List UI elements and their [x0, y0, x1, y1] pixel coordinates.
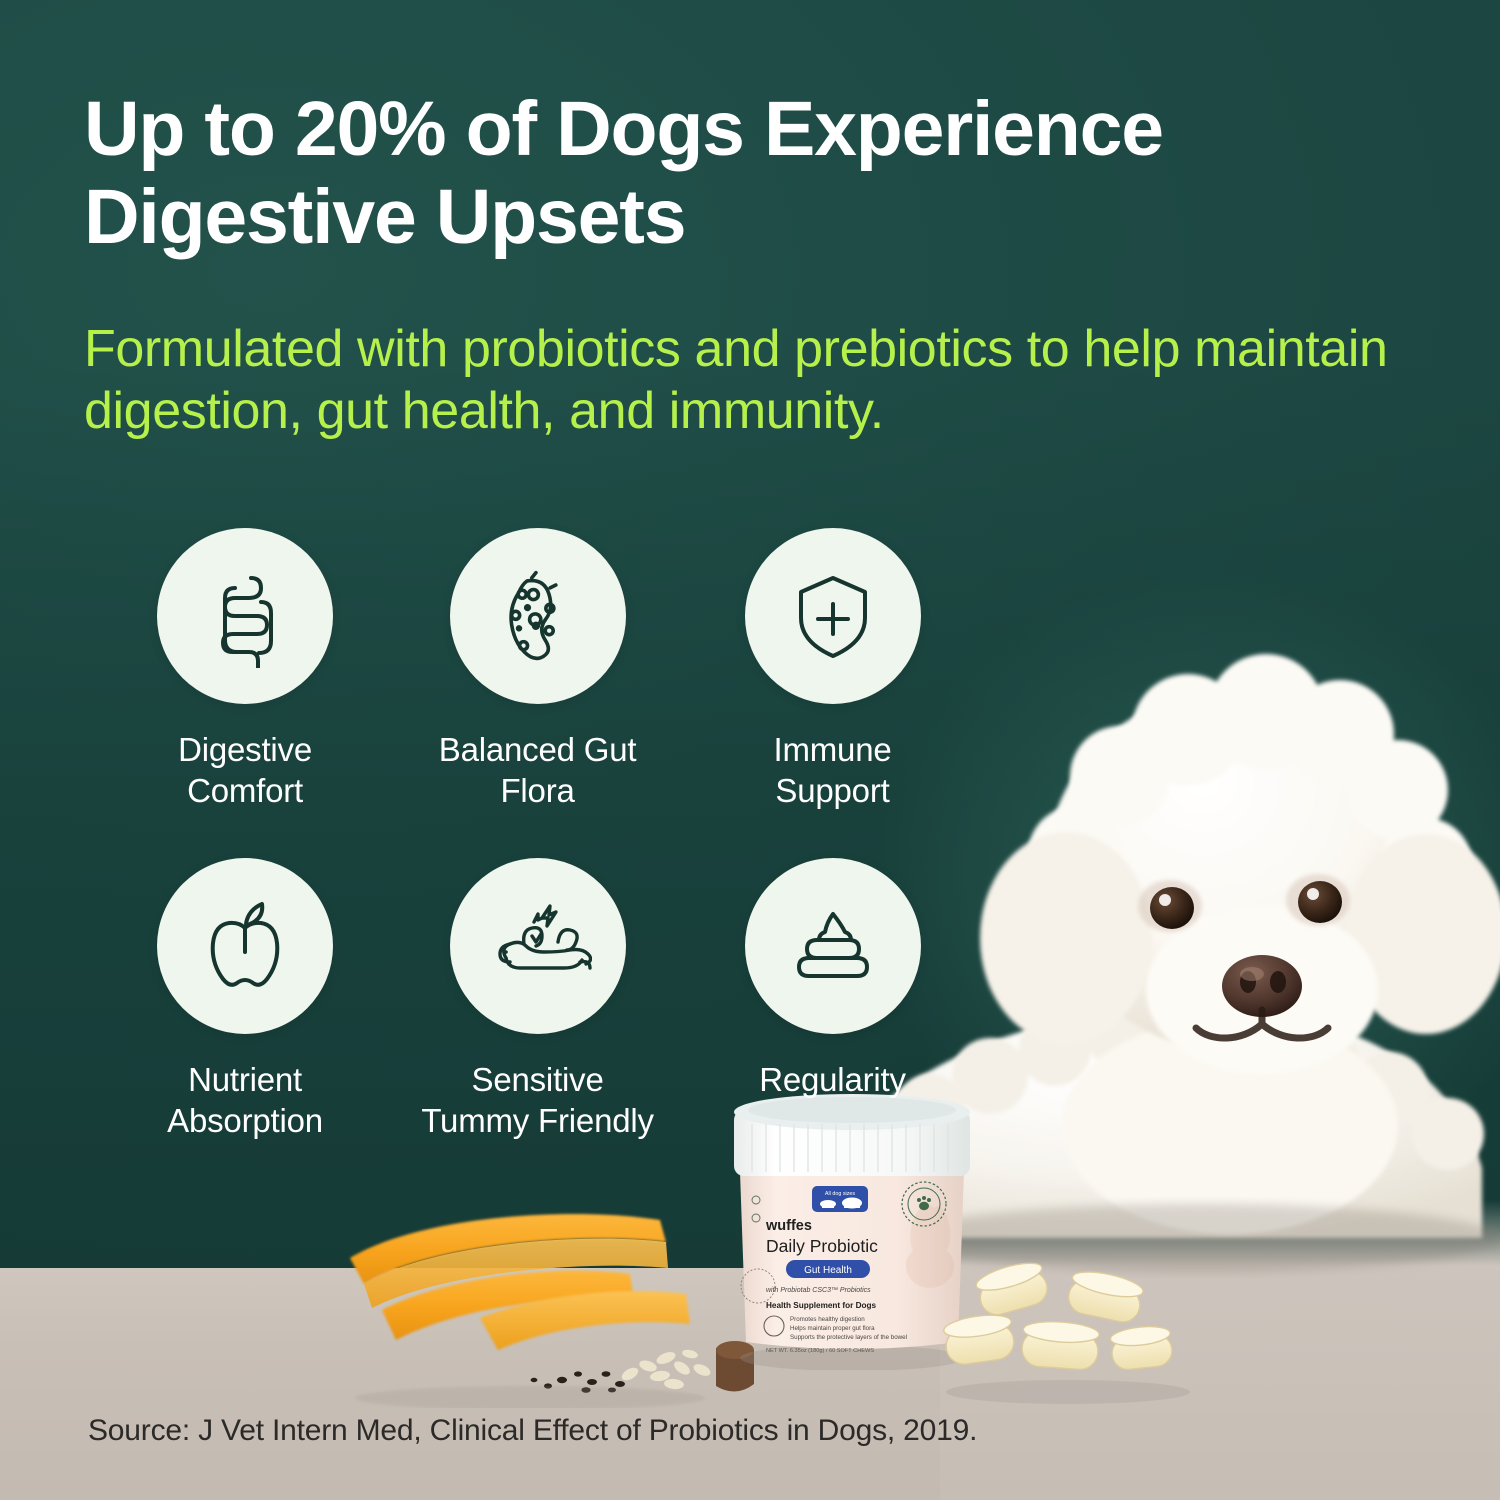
pumpkin-and-oats-props	[330, 1198, 760, 1408]
benefit-immune-support: Immune Support	[685, 528, 980, 812]
jar-bullet-1: Promotes healthy digestion	[790, 1316, 865, 1323]
jar-net-weight-text: NET WT. 6.35oz (180g) / 60 SOFT CHEWS	[766, 1348, 874, 1354]
benefit-sensitive-tummy: Sensitive Tummy Friendly	[390, 858, 685, 1142]
benefit-balanced-gut-flora: Balanced Gut Flora	[390, 528, 685, 812]
benefit-regularity: Regularity	[685, 858, 980, 1142]
stool-icon	[745, 858, 921, 1034]
shield-plus-icon	[745, 528, 921, 704]
page-title: Up to 20% of Dogs Experience Digestive U…	[84, 86, 1424, 262]
jar-product-name-text: Daily Probiotic	[766, 1236, 878, 1256]
banana-slices-prop	[928, 1258, 1198, 1408]
benefit-label: Digestive Comfort	[178, 730, 312, 812]
benefits-row-2: Nutrient Absorption	[100, 858, 980, 1142]
benefit-label: Sensitive Tummy Friendly	[421, 1060, 654, 1142]
jar-size-badge-text: All dog sizes	[825, 1191, 856, 1197]
jar-bullet-3: Supports the protective layers of the bo…	[790, 1334, 907, 1341]
jar-bullet-2: Helps maintain proper gut flora	[790, 1325, 875, 1332]
source-citation: Source: J Vet Intern Med, Clinical Effec…	[88, 1414, 977, 1448]
bacteria-icon	[450, 528, 626, 704]
benefit-digestive-comfort: Digestive Comfort	[100, 528, 390, 812]
jar-pill-text: Gut Health	[804, 1265, 852, 1276]
infographic-stage: All dog sizes wuffes Daily Probiotic Gut…	[0, 0, 1500, 1500]
apple-icon	[157, 858, 333, 1034]
benefit-nutrient-absorption: Nutrient Absorption	[100, 858, 390, 1142]
benefits-grid: Digestive Comfort	[100, 528, 980, 1142]
jar-supplement-text: Health Supplement for Dogs	[766, 1301, 877, 1310]
benefit-label: Balanced Gut Flora	[439, 730, 637, 812]
page-subtitle: Formulated with probiotics and prebiotic…	[84, 318, 1444, 443]
intestines-icon	[157, 528, 333, 704]
benefits-row-1: Digestive Comfort	[100, 528, 980, 812]
benefit-label: Nutrient Absorption	[167, 1060, 323, 1142]
jar-ingredient-text: with Probiotab CSC3™ Probiotics	[766, 1287, 871, 1294]
benefit-label: Regularity	[759, 1060, 906, 1101]
dog-belly-icon	[450, 858, 626, 1034]
jar-brand-text: wuffes	[765, 1218, 812, 1234]
benefit-label: Immune Support	[774, 730, 892, 812]
